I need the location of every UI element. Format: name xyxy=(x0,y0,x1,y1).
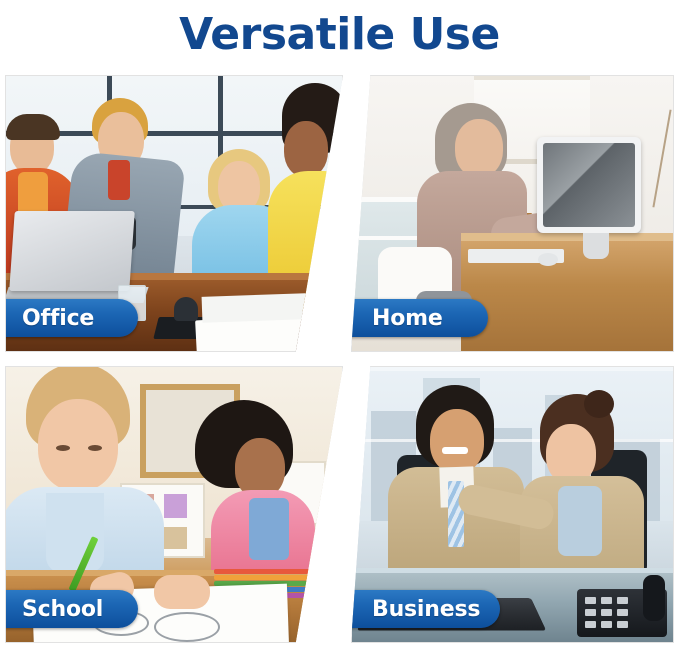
badge-home-label: Home xyxy=(372,306,443,331)
badge-school-label: School xyxy=(22,597,103,622)
panel-office[interactable]: Office xyxy=(5,75,343,352)
badge-business-label: Business xyxy=(372,597,480,622)
panel-business[interactable]: Business xyxy=(351,366,674,643)
badge-school: School xyxy=(5,590,138,628)
panel-home[interactable]: Home xyxy=(351,75,674,352)
grid-row-top: Office xyxy=(5,75,674,352)
badge-office: Office xyxy=(5,299,138,337)
page-header: Versatile Use xyxy=(0,0,679,70)
grid-row-bottom: School xyxy=(5,366,674,643)
badge-office-label: Office xyxy=(22,306,94,331)
badge-home: Home xyxy=(351,299,488,337)
badge-business: Business xyxy=(351,590,500,628)
panel-school[interactable]: School xyxy=(5,366,343,643)
page-title: Versatile Use xyxy=(179,13,500,57)
versatile-use-banner: Versatile Use xyxy=(0,0,679,648)
image-grid: Office xyxy=(5,75,674,643)
